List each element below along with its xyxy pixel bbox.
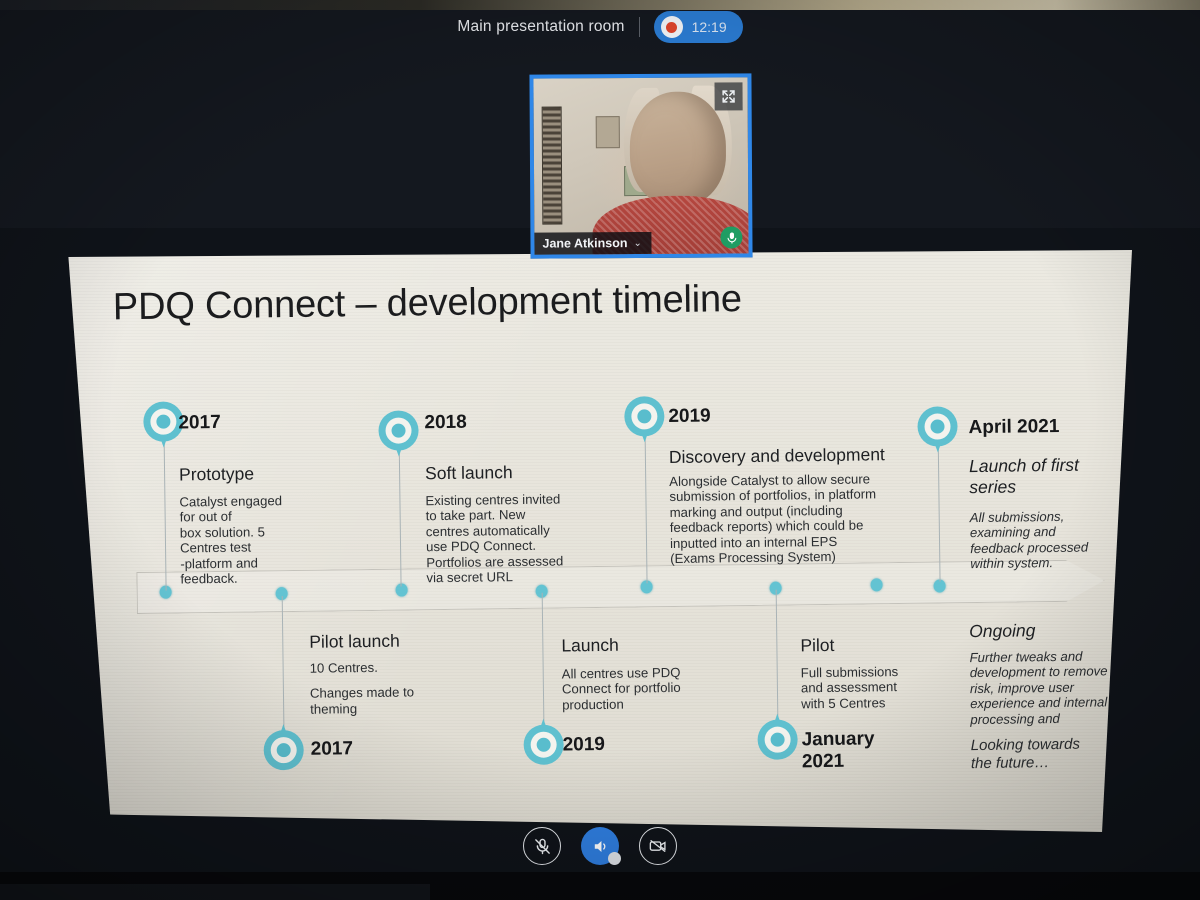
- milestone-heading: Pilot: [800, 633, 970, 656]
- timeline-pin-top-2: [378, 410, 419, 459]
- milestone-bottom-4: Ongoing Further tweaks and development t…: [969, 619, 1146, 773]
- milestone-body: Full submissions and assessment with 5 C…: [801, 663, 972, 712]
- milestone-heading: Pilot launch: [309, 629, 489, 652]
- room-title: Main presentation room: [457, 18, 624, 36]
- milestone-heading: Ongoing: [969, 619, 1144, 642]
- connector-bottom-2: [542, 593, 545, 727]
- milestone-heading: Prototype: [179, 462, 359, 485]
- chevron-down-icon[interactable]: ⌄: [633, 237, 641, 248]
- microphone-muted-icon[interactable]: [523, 827, 561, 865]
- milestone-heading: Discovery and development: [669, 443, 959, 468]
- slide-content: PDQ Connect – development timeline: [58, 243, 1136, 839]
- timeline-pin-bottom-2: [523, 724, 564, 773]
- connector-bottom-3: [776, 590, 779, 724]
- milestone-body-extra: Changes made to theming: [310, 684, 490, 717]
- connector-bottom-1: [282, 596, 285, 732]
- milestone-top-1: 2017 Prototype Catalyst engaged for out …: [178, 410, 360, 587]
- milestone-year: 2018: [424, 410, 624, 435]
- milestone-body: Alongside Catalyst to allow secure submi…: [669, 470, 960, 566]
- record-dot: [666, 22, 677, 33]
- milestone-top-4: April 2021 Launch of first series All su…: [968, 415, 1140, 572]
- connector-top-2: [399, 439, 402, 587]
- timeline-dot-7: [871, 578, 883, 591]
- record-icon: [661, 16, 683, 38]
- recording-indicator[interactable]: 12:19: [654, 11, 743, 43]
- speaker-icon[interactable]: [581, 827, 619, 865]
- milestone-body: Existing centres invited to take part. N…: [425, 491, 626, 586]
- milestone-year: 2017: [311, 737, 491, 761]
- participant-video-tile[interactable]: Jane Atkinson ⌄: [529, 73, 752, 258]
- recording-timer: 12:19: [692, 19, 727, 35]
- connector-top-1: [164, 431, 167, 591]
- milestone-year: 2019: [563, 732, 753, 756]
- person-face: [630, 91, 727, 206]
- milestone-top-2: 2018 Soft launch Existing centres invite…: [424, 410, 626, 586]
- milestone-bottom-2: Launch All centres use PDQ Connect for p…: [561, 633, 753, 757]
- milestone-bottom-3: Pilot Full submissions and assessment wi…: [800, 633, 972, 772]
- milestone-heading: Soft launch: [425, 461, 625, 485]
- milestone-year: April 2021: [968, 415, 1138, 439]
- call-controls: [0, 820, 1200, 872]
- connector-top-3: [644, 425, 647, 583]
- milestone-body: 10 Centres.: [310, 658, 490, 676]
- milestone-heading: Launch of first series: [969, 454, 1140, 498]
- camera-off-icon[interactable]: [639, 827, 677, 865]
- page-title: PDQ Connect – development timeline: [113, 278, 742, 329]
- milestone-bottom-1: Pilot launch 10 Centres. Changes made to…: [309, 629, 491, 761]
- milestone-body: All submissions, examining and feedback …: [970, 508, 1141, 572]
- timeline-dot-3: [396, 583, 408, 596]
- milestone-body-extra: Looking towards the future…: [971, 735, 1146, 773]
- milestone-body: All centres use PDQ Connect for portfoli…: [562, 664, 753, 713]
- timeline-pin-bottom-1: [263, 730, 304, 779]
- participant-name-chip[interactable]: Jane Atkinson ⌄: [534, 232, 652, 255]
- expand-icon[interactable]: [714, 82, 742, 110]
- milestone-year: 2017: [178, 410, 358, 434]
- background-picture-1: [596, 116, 620, 148]
- topbar-divider: [639, 17, 640, 37]
- milestone-heading: Launch: [561, 633, 751, 656]
- projected-slide: PDQ Connect – development timeline: [62, 250, 1132, 832]
- milestone-year: 2019: [668, 402, 958, 428]
- timeline-pin-bottom-3: [757, 719, 798, 768]
- milestone-body: Further tweaks and development to remove…: [969, 648, 1145, 727]
- computer-use-screenshot: Main presentation room 12:19: [0, 0, 1200, 900]
- timeline-pin-top-3: [624, 396, 665, 445]
- milestone-top-3: 2019 Discovery and development Alongside…: [668, 402, 960, 566]
- microphone-icon: [720, 226, 742, 248]
- background-shelf: [542, 106, 563, 224]
- desk-edge: [0, 884, 430, 900]
- milestone-year: January 2021: [801, 727, 972, 772]
- meeting-topbar: Main presentation room 12:19: [0, 0, 1200, 50]
- milestone-body: Catalyst engaged for out of box solution…: [179, 492, 360, 587]
- participant-name: Jane Atkinson: [542, 236, 627, 251]
- speaker-status-badge: [608, 852, 621, 865]
